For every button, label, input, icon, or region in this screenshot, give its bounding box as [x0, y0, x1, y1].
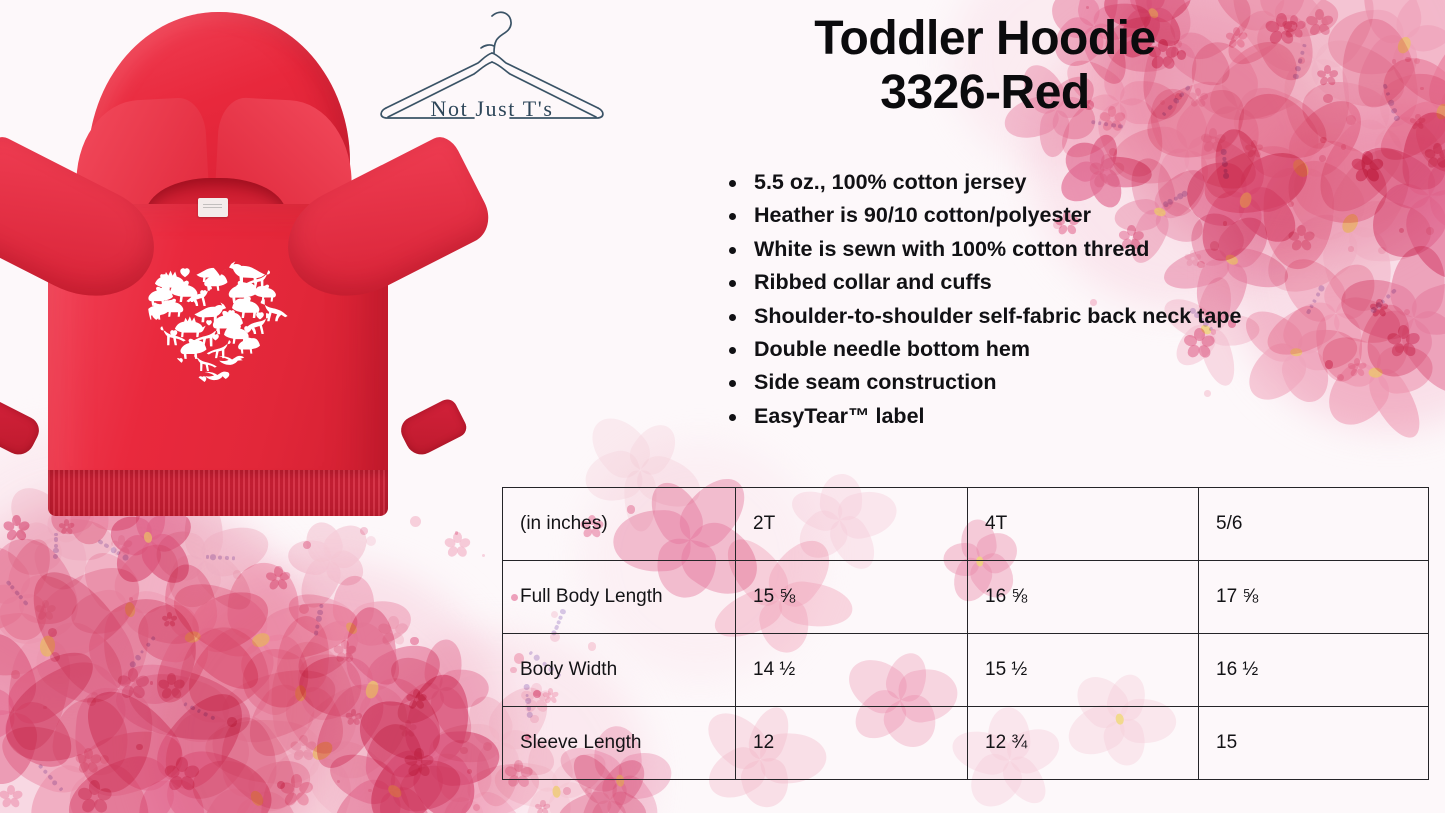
- table-header-cell: 5/6: [1199, 488, 1429, 561]
- table-row-label: Full Body Length: [503, 561, 736, 634]
- size-chart-body: (in inches)2T4T5/6Full Body Length15 ⅝16…: [503, 488, 1429, 780]
- table-row-header: (in inches)2T4T5/6: [503, 488, 1429, 561]
- table-measurement-cell: 14 ½: [736, 634, 968, 707]
- title-line-2: 3326-Red: [655, 66, 1315, 120]
- table-row: Body Width14 ½15 ½16 ½: [503, 634, 1429, 707]
- spec-item: Side seam construction: [726, 366, 1426, 399]
- spec-item: White is sewn with 100% cotton thread: [726, 233, 1426, 266]
- table-row: Sleeve Length1212 ¾15: [503, 707, 1429, 780]
- brand-logo: Not Just T's: [368, 4, 616, 144]
- spec-item: Shoulder-to-shoulder self-fabric back ne…: [726, 300, 1426, 333]
- page-title: Toddler Hoodie 3326-Red: [655, 12, 1315, 120]
- table-header-cell: 4T: [968, 488, 1199, 561]
- table-measurement-cell: 15 ⅝: [736, 561, 968, 634]
- table-measurement-cell: 12: [736, 707, 968, 780]
- hoodie-left-cuff: [0, 396, 44, 460]
- product-listing-canvas: Not Just T's Toddler Hoodie 3326-Red 5.5…: [0, 0, 1445, 813]
- table-row-label: Sleeve Length: [503, 707, 736, 780]
- size-chart-table: (in inches)2T4T5/6Full Body Length15 ⅝16…: [502, 487, 1429, 780]
- table-measurement-cell: 12 ¾: [968, 707, 1199, 780]
- table-header-cell: 2T: [736, 488, 968, 561]
- table-measurement-cell: 16 ⅝: [968, 561, 1199, 634]
- spec-item: Ribbed collar and cuffs: [726, 266, 1426, 299]
- table-measurement-cell: 15 ½: [968, 634, 1199, 707]
- spec-item: Double needle bottom hem: [726, 333, 1426, 366]
- hoodie-right-cuff: [396, 396, 469, 460]
- table-measurement-cell: 17 ⅝: [1199, 561, 1429, 634]
- table-measurement-cell: 15: [1199, 707, 1429, 780]
- hoodie-ribbed-hem: [48, 470, 388, 516]
- title-line-1: Toddler Hoodie: [814, 12, 1155, 65]
- table-row: Full Body Length15 ⅝16 ⅝17 ⅝: [503, 561, 1429, 634]
- spec-item: 5.5 oz., 100% cotton jersey: [726, 166, 1426, 199]
- product-spec-list: 5.5 oz., 100% cotton jerseyHeather is 90…: [686, 166, 1426, 433]
- hoodie-neck-label: [198, 198, 228, 217]
- table-row-label: Body Width: [503, 634, 736, 707]
- table-header-cell: (in inches): [503, 488, 736, 561]
- brand-name-text: Not Just T's: [368, 96, 616, 122]
- spec-item: Heather is 90/10 cotton/polyester: [726, 199, 1426, 232]
- spec-item: EasyTear™ label: [726, 400, 1426, 433]
- table-measurement-cell: 16 ½: [1199, 634, 1429, 707]
